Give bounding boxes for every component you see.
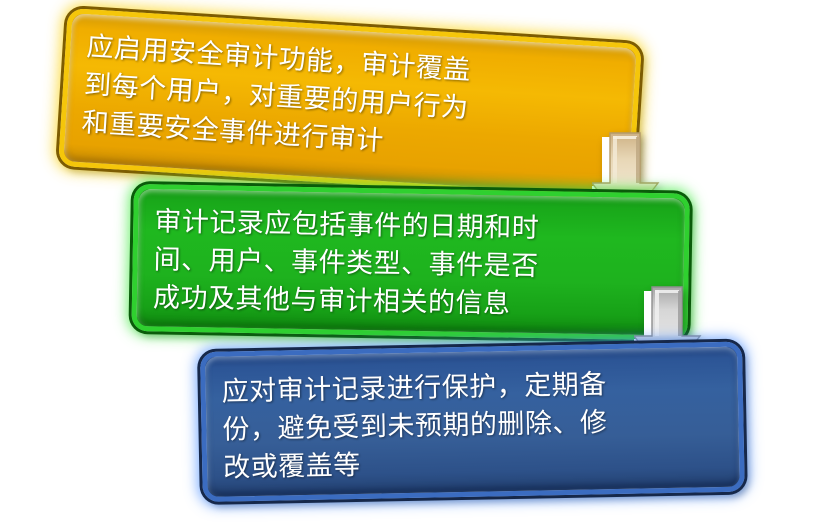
callout-box-blue[interactable]: 应对审计记录进行保护，定期备 份，避免受到未预期的删除、修 改或覆盖等 <box>200 342 745 502</box>
slide-canvas: 应启用安全审计功能，审计覆盖 到每个用户，对重要的用户行为 和重要安全事件进行审… <box>0 0 816 524</box>
callout-box-green[interactable]: 审计记录应包括事件的日期和时 间、用户、事件类型、事件是否 成功及其他与审计相关… <box>131 184 689 341</box>
callout-text-blue: 应对审计记录进行保护，定期备 份，避免受到未预期的删除、修 改或覆盖等 <box>221 363 729 487</box>
callout-box-orange[interactable]: 应启用安全审计功能，审计覆盖 到每个用户，对重要的用户行为 和重要安全事件进行审… <box>58 8 642 202</box>
callout-text-green: 审计记录应包括事件的日期和时 间、用户、事件类型、事件是否 成功及其他与审计相关… <box>153 202 675 325</box>
